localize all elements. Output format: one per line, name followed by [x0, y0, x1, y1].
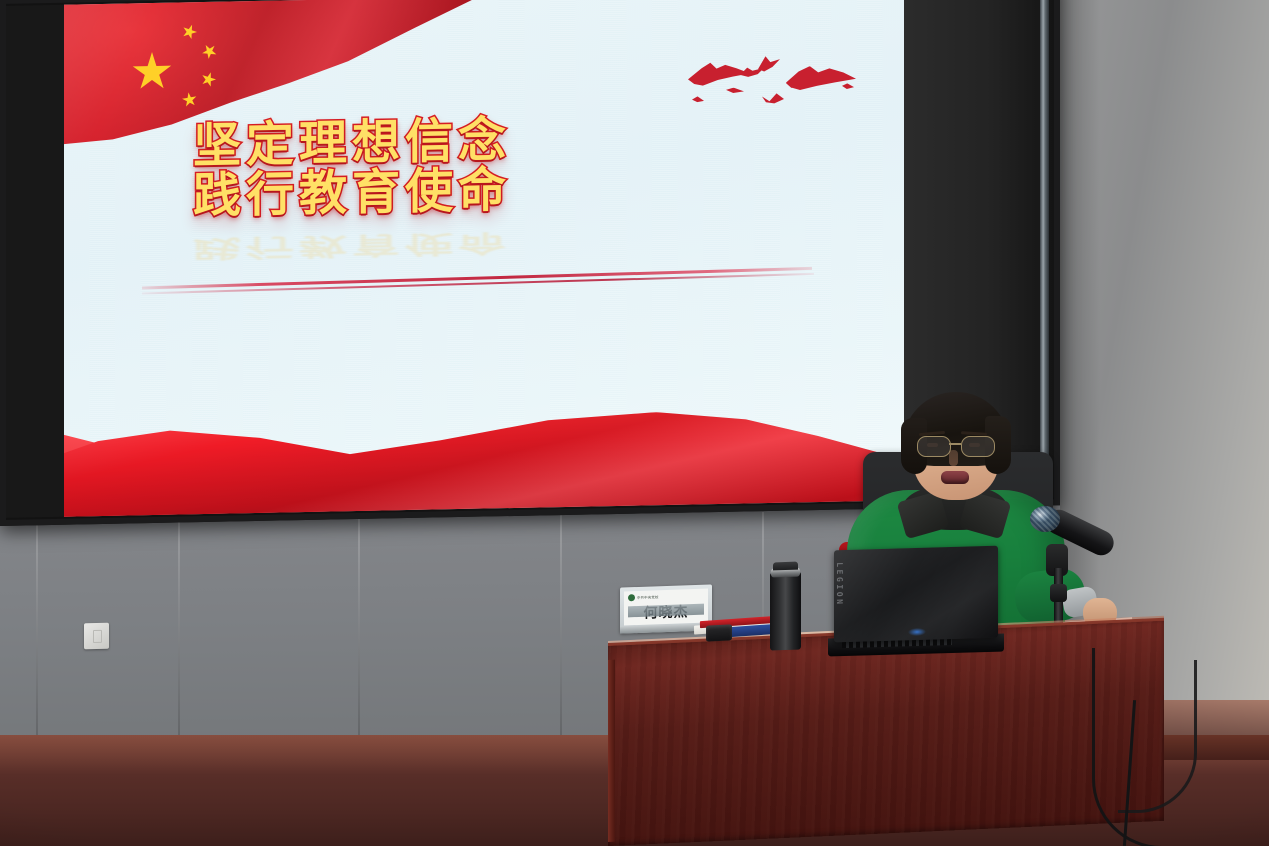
thermos-body	[770, 571, 801, 650]
wall-panel-seam	[560, 512, 562, 752]
microphone-mesh-grille	[1030, 506, 1060, 532]
wall-power-outlet[interactable]	[84, 623, 109, 649]
wall-panel-seam	[36, 512, 38, 752]
wall-panel-seam	[358, 512, 360, 752]
glasses-bridge	[949, 443, 961, 445]
thermos-cap	[773, 562, 798, 571]
nameplate-logo: 中共中央党校	[628, 593, 659, 601]
wall-panel-seam	[178, 512, 180, 752]
laptop-brand-label: LEGION	[835, 562, 844, 607]
desk-left-edge	[608, 660, 615, 842]
mouth-speaking	[941, 471, 969, 484]
nose	[949, 450, 958, 466]
laptop[interactable]: LEGION	[828, 546, 1004, 657]
lens-right	[961, 436, 995, 457]
lens-left	[917, 436, 951, 457]
microphone-stand-adjuster[interactable]	[1050, 584, 1067, 602]
small-black-cup[interactable]	[706, 624, 732, 641]
nameplate-logo-text: 中共中央党校	[637, 594, 659, 600]
outlet-socket-icon	[93, 630, 102, 643]
photo-scene: 坚定理想信念 践行教育使命 践行教育使命	[0, 0, 1269, 846]
institution-logo-icon	[628, 594, 635, 601]
thermos-bottle[interactable]	[770, 561, 801, 650]
